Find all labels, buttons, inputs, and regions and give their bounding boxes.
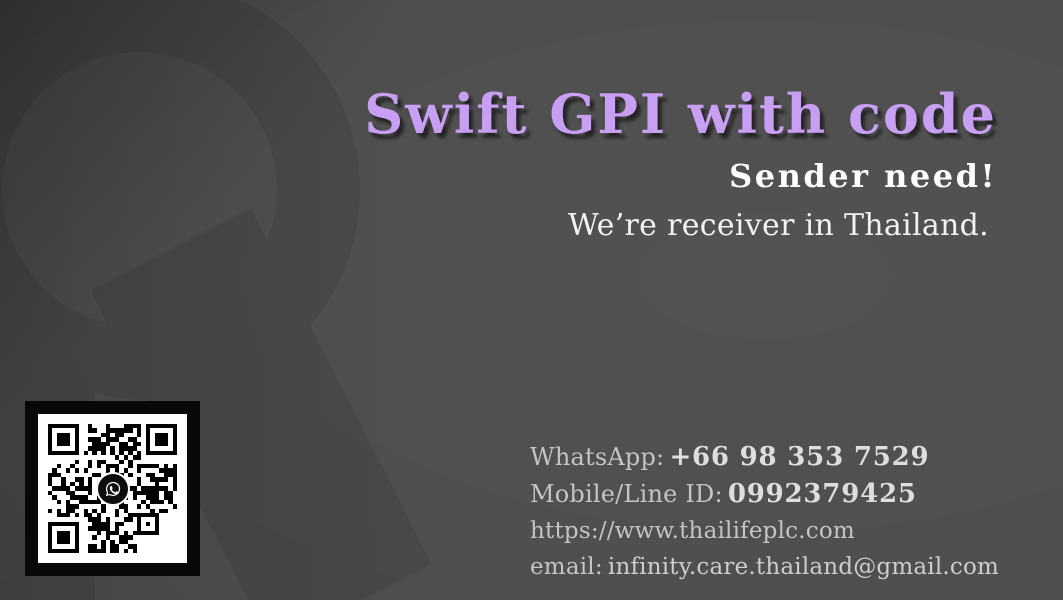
- whatsapp-icon: [96, 472, 130, 506]
- qr-code-quiet-zone: [38, 414, 187, 563]
- line-id-number[interactable]: 0992379425: [728, 479, 917, 509]
- contact-row-whatsapp: WhatsApp: +66 98 353 7529: [530, 440, 999, 477]
- email-address[interactable]: infinity.care.thailand@gmail.com: [608, 554, 999, 580]
- contact-row-website: https://www.thailifeplc.com: [530, 514, 999, 550]
- contact-block: WhatsApp: +66 98 353 7529 Mobile/Line ID…: [530, 440, 999, 586]
- contact-row-email: email: infinity.care.thailand@gmail.com: [530, 550, 999, 586]
- page-title: Swift GPI with code: [0, 82, 997, 146]
- website-link[interactable]: https://www.thailifeplc.com: [530, 518, 855, 544]
- whatsapp-label: WhatsApp:: [530, 443, 664, 471]
- qr-code-frame[interactable]: [25, 401, 200, 576]
- whatsapp-number[interactable]: +66 98 353 7529: [669, 442, 929, 472]
- business-card: Swift GPI with code Sender need! We’re r…: [0, 0, 1063, 600]
- line-id-label: Mobile/Line ID:: [530, 480, 723, 508]
- subtitle: Sender need!: [0, 157, 997, 195]
- email-label: email:: [530, 554, 603, 580]
- tagline: We’re receiver in Thailand.: [0, 208, 989, 243]
- contact-row-line-id: Mobile/Line ID: 0992379425: [530, 477, 999, 514]
